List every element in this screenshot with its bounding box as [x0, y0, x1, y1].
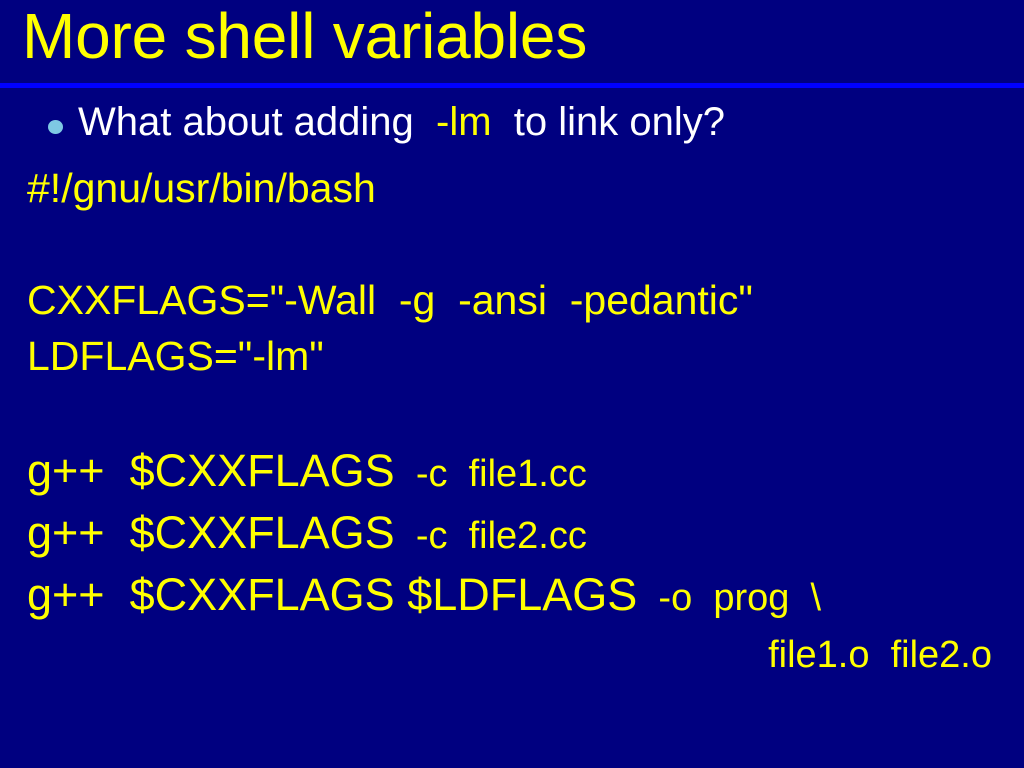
code-compile-2-command: g++ $CXXFLAGS — [27, 507, 395, 558]
bullet-text-highlight: -lm — [436, 100, 492, 144]
code-line-shebang: #!/gnu/usr/bin/bash — [27, 160, 1024, 216]
code-listing: #!/gnu/usr/bin/bash CXXFLAGS="-Wall -g -… — [27, 160, 1024, 684]
code-link-command: g++ $CXXFLAGS $LDFLAGS — [27, 569, 637, 620]
code-compile-1-args: -c file1.cc — [395, 453, 587, 495]
bullet-text-after: to link only? — [492, 100, 725, 144]
slide-canvas: More shell variables What about adding -… — [0, 0, 1024, 768]
page-title: More shell variables — [22, 0, 587, 78]
code-line-compile-2: g++ $CXXFLAGS -c file2.cc — [27, 502, 1024, 564]
code-line-blank-1 — [27, 216, 1024, 272]
bullet-item-text: What about adding -lm to link only? — [78, 96, 725, 148]
bullet-text-before: What about adding — [78, 100, 436, 144]
code-compile-2-args: -c file2.cc — [395, 515, 587, 557]
code-line-cxxflags: CXXFLAGS="-Wall -g -ansi -pedantic" — [27, 272, 1024, 328]
code-line-blank-2 — [27, 384, 1024, 440]
code-line-ldflags: LDFLAGS="-lm" — [27, 328, 1024, 384]
bullet-dot-icon — [48, 120, 63, 134]
code-link-args: -o prog \ — [637, 577, 821, 619]
title-divider — [0, 83, 1024, 88]
code-line-link-continuation: file1.o file2.o — [27, 626, 1024, 684]
code-line-compile-1: g++ $CXXFLAGS -c file1.cc — [27, 440, 1024, 502]
bullet-list-item: What about adding -lm to link only? — [0, 96, 1024, 148]
code-compile-1-command: g++ $CXXFLAGS — [27, 445, 395, 496]
code-line-link: g++ $CXXFLAGS $LDFLAGS -o prog \ — [27, 564, 1024, 626]
slide-title-block: More shell variables — [0, 0, 1024, 83]
